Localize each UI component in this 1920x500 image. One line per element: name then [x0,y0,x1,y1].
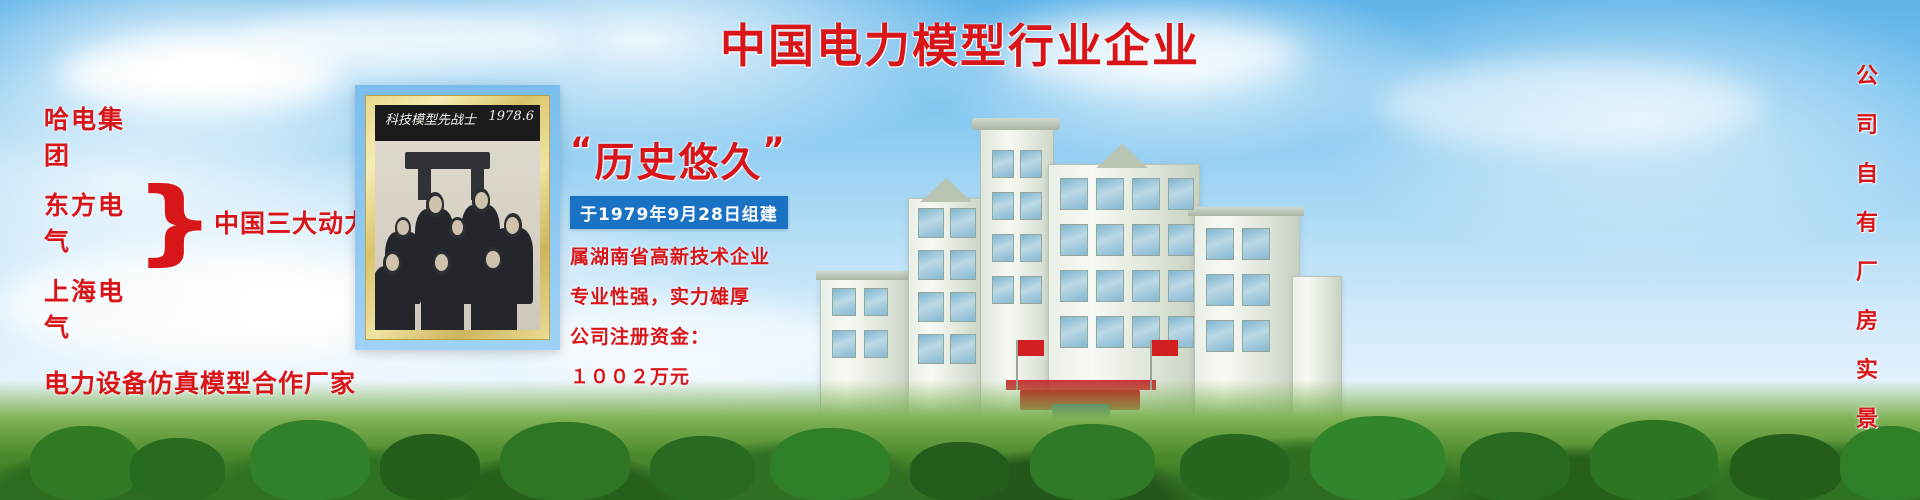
history-quote: “历史悠久” [570,130,830,188]
photo-caption: 科技模型先战士 1978.6 [385,109,534,128]
detail-line-3: 公司注册资金： [570,322,830,349]
vertical-char-3: 自 [1856,156,1878,188]
photo-image: 科技模型先战士 1978.6 [375,105,540,330]
vertical-char-7: 实 [1856,352,1878,384]
founding-date-badge: 于1979年9月28日组建 [570,196,788,229]
photo-frame: 科技模型先战士 1978.6 [365,95,550,340]
vertical-char-2: 司 [1856,107,1878,139]
factory-building-illustration [820,98,1340,428]
brace-group: 哈电集团 东方电气 上海电气 } 中国三大动力 [30,100,370,344]
vertical-char-6: 房 [1856,303,1878,335]
vertical-char-8: 景 [1856,401,1878,433]
curly-brace-icon: } [134,189,216,255]
right-vertical-caption: 公 司 自 有 厂 房 实 景 [1856,58,1878,433]
partner-company-1: 哈电集团 [44,100,132,172]
centre-detail-lines: 属湖南省高新技术企业 专业性强，实力雄厚 公司注册资金： １００２万元 [570,242,830,389]
detail-line-2: 专业性强，实力雄厚 [570,282,830,309]
quote-body: 历史悠久 [594,140,762,186]
vertical-char-4: 有 [1856,205,1878,237]
photo-caption-date: 1978.6 [489,109,535,128]
promo-banner: 中国电力模型行业企业 哈电集团 东方电气 上海电气 } 中国三大动力 电力设备仿… [0,0,1920,500]
vertical-char-1: 公 [1856,58,1878,90]
centre-text-block: “历史悠久” 于1979年9月28日组建 属湖南省高新技术企业 专业性强，实力雄… [570,130,830,389]
partner-company-3: 上海电气 [44,272,132,344]
quote-close-mark: ” [762,130,786,170]
left-feature-block: 哈电集团 东方电气 上海电气 } 中国三大动力 电力设备仿真模型合作厂家 [30,100,370,400]
brace-label: 中国三大动力 [214,204,370,240]
page-title: 中国电力模型行业企业 [0,10,1920,76]
quote-open-mark: “ [570,130,594,170]
photo-caption-text: 科技模型先战士 [385,109,476,128]
vertical-char-5: 厂 [1856,254,1878,286]
detail-line-1: 属湖南省高新技术企业 [570,242,830,269]
group-photo-people [375,141,540,330]
left-footer-text: 电力设备仿真模型合作厂家 [30,364,370,400]
detail-line-4: １００２万元 [570,362,830,389]
partner-company-list: 哈电集团 东方电气 上海电气 [30,100,132,344]
historic-photo: 科技模型先战士 1978.6 [355,85,560,350]
partner-company-2: 东方电气 [44,186,132,258]
